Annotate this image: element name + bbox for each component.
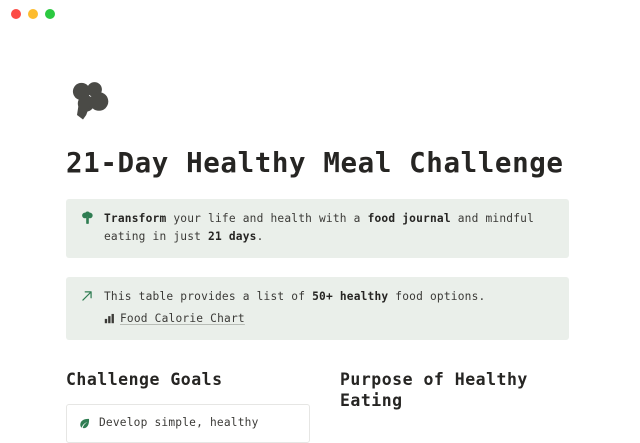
- minimize-window-button[interactable]: [28, 9, 38, 19]
- callout-text-3: .: [257, 230, 264, 243]
- callout-table-info-text: This table provides a list of 50+ health…: [104, 288, 485, 306]
- callout-transform: Transform your life and health with a fo…: [66, 199, 569, 258]
- callout-text-1: your life and health with a: [166, 212, 367, 225]
- page-container: 21-Day Healthy Meal Challenge Transform …: [0, 78, 640, 443]
- broccoli-icon: [66, 78, 114, 126]
- bar-chart-icon: [104, 309, 115, 328]
- window-title-bar: [0, 0, 640, 28]
- callout-bold-transform: Transform: [104, 212, 166, 225]
- callout-text-4: This table provides a list of: [104, 290, 312, 303]
- traffic-lights: [11, 9, 55, 19]
- page-content: 21-Day Healthy Meal Challenge Transform …: [0, 78, 640, 443]
- challenge-goal-card-text: Develop simple, healthy: [99, 414, 259, 431]
- page-title: 21-Day Healthy Meal Challenge: [66, 148, 574, 180]
- challenge-goal-card[interactable]: Develop simple, healthy: [66, 404, 310, 443]
- food-calorie-chart-link[interactable]: Food Calorie Chart: [120, 312, 245, 325]
- column-purpose: Purpose of Healthy Eating: [340, 370, 572, 443]
- callout-table-info-body: This table provides a list of 50+ health…: [104, 288, 485, 328]
- broccoli-icon: [79, 211, 95, 228]
- maximize-window-button[interactable]: [45, 9, 55, 19]
- callout-bold-21-days: 21 days: [208, 230, 257, 243]
- callout-text-5: food options.: [388, 290, 485, 303]
- column-challenge-goals: Challenge Goals Develop simple, healthy: [66, 370, 310, 443]
- close-window-button[interactable]: [11, 9, 21, 19]
- food-calorie-chart-link-row[interactable]: Food Calorie Chart: [104, 309, 485, 328]
- callout-bold-food-journal: food journal: [368, 212, 451, 225]
- page-icon[interactable]: [66, 78, 114, 126]
- callout-bold-50-healthy: 50+ healthy: [312, 290, 388, 303]
- arrow-up-right-icon: [79, 289, 95, 306]
- callout-table-info: This table provides a list of 50+ health…: [66, 277, 569, 340]
- columns-section: Challenge Goals Develop simple, healthy …: [66, 370, 574, 443]
- purpose-heading: Purpose of Healthy Eating: [340, 370, 572, 412]
- callout-transform-text: Transform your life and health with a fo…: [104, 210, 555, 246]
- challenge-goals-heading: Challenge Goals: [66, 370, 310, 391]
- leaf-icon: [78, 415, 92, 429]
